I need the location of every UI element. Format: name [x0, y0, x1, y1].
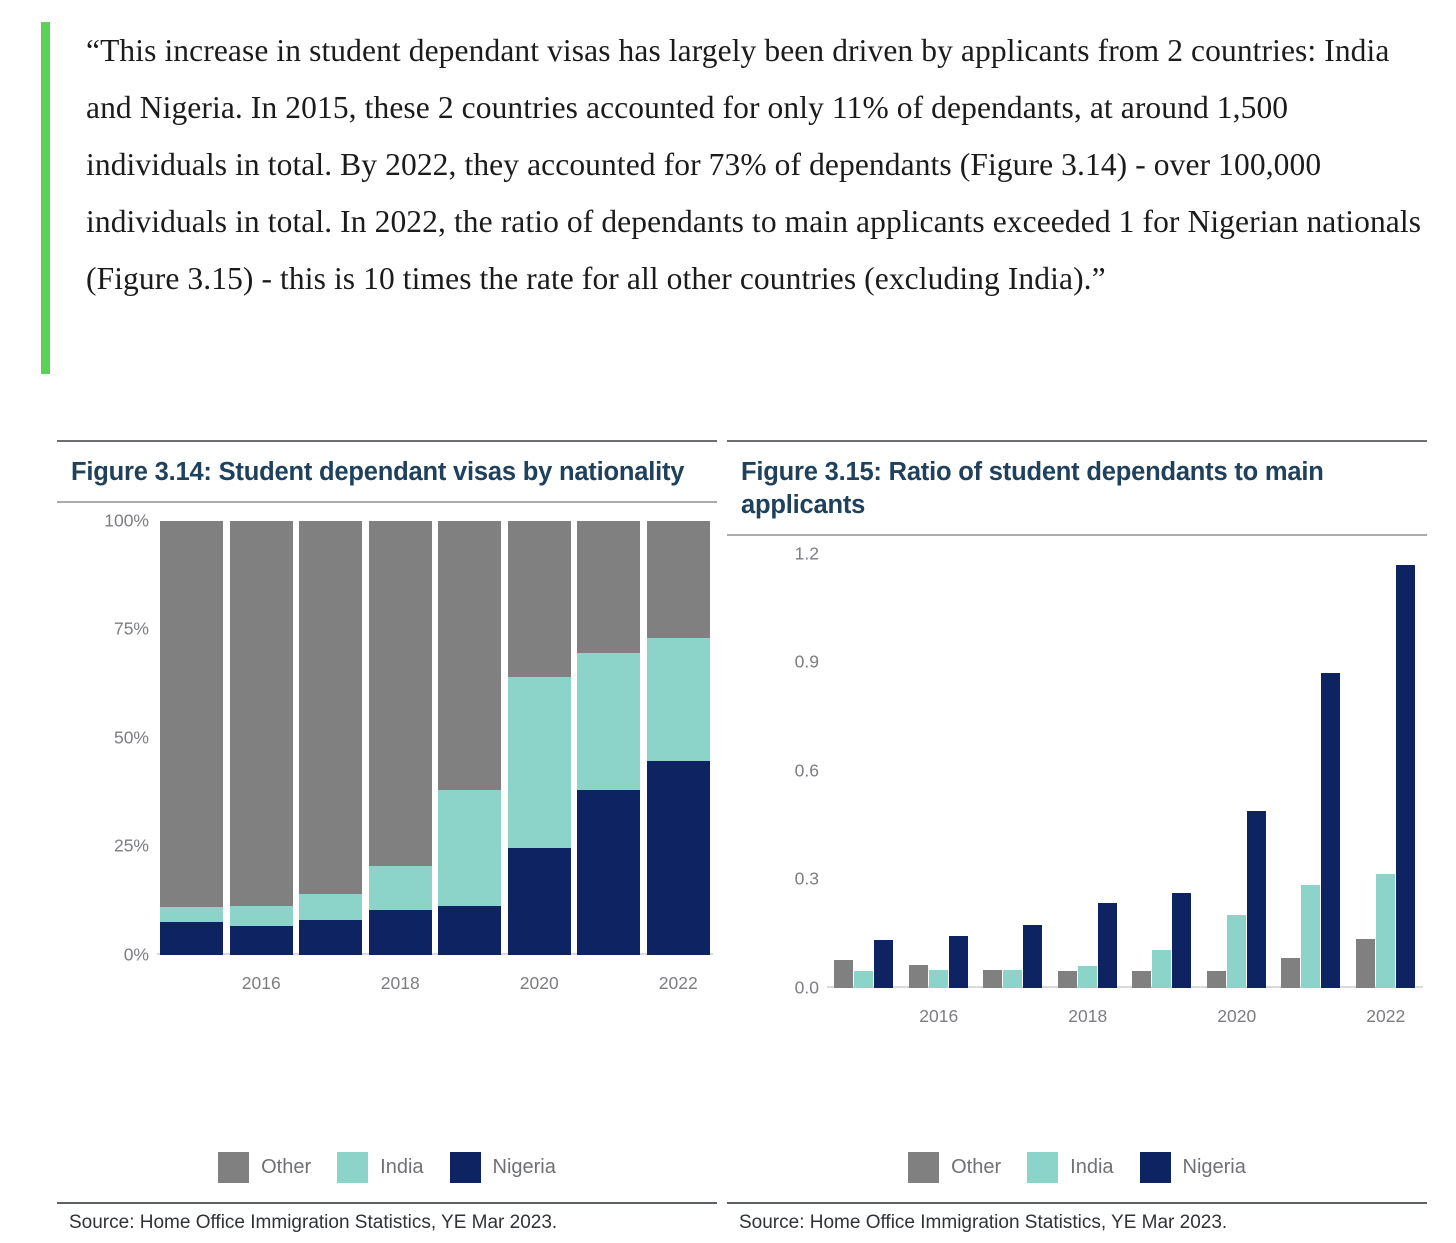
stack-segment-india	[230, 906, 293, 926]
stack-segment-other	[160, 521, 223, 907]
legend-swatch-india	[1027, 1152, 1058, 1183]
grouped-bars-container	[827, 554, 1423, 988]
stack-segment-india	[299, 894, 362, 920]
legend-label: Other	[951, 1156, 1001, 1179]
stack-segment-nigeria	[647, 761, 710, 954]
stack-segment-other	[577, 521, 640, 653]
stacked-bar-column[interactable]	[230, 521, 293, 955]
figure-3-15-title: Figure 3.15: Ratio of student dependants…	[727, 442, 1427, 534]
legend-swatch-nigeria	[450, 1152, 481, 1183]
bar-other[interactable]	[1058, 971, 1077, 988]
y-axis-tick: 1.2	[795, 543, 819, 564]
bar-nigeria[interactable]	[1098, 903, 1117, 988]
stacked-bar-column[interactable]	[160, 521, 223, 955]
stacked-bar-column[interactable]	[438, 521, 501, 955]
figure-bottom-rule	[57, 1202, 717, 1204]
stacked-bar-column[interactable]	[508, 521, 571, 955]
stack-segment-india	[647, 638, 710, 762]
bar-other[interactable]	[834, 960, 853, 987]
stack-segment-india	[438, 790, 501, 906]
legend-item[interactable]: India	[1027, 1152, 1113, 1183]
bar-india[interactable]	[1152, 950, 1171, 988]
stack-segment-nigeria	[369, 910, 432, 954]
stack-segment-nigeria	[230, 926, 293, 955]
legend-label: India	[380, 1156, 423, 1179]
figure-3-15-source: Source: Home Office Immigration Statisti…	[739, 1212, 1227, 1234]
bar-other[interactable]	[1132, 971, 1151, 987]
bar-india[interactable]	[1301, 885, 1320, 987]
bar-nigeria[interactable]	[1321, 673, 1340, 988]
bar-other[interactable]	[1281, 958, 1300, 988]
y-axis-tick: 0%	[124, 944, 149, 965]
stacked-bar-column[interactable]	[577, 521, 640, 955]
stacked-bar-column[interactable]	[369, 521, 432, 955]
x-axis-tick: 2020	[520, 973, 559, 994]
bar-nigeria[interactable]	[1172, 893, 1191, 988]
bar-india[interactable]	[854, 971, 873, 988]
legend-swatch-other	[218, 1152, 249, 1183]
stack-segment-other	[230, 521, 293, 906]
y-axis-tick: 0.9	[795, 652, 819, 673]
figure-3-15-legend: OtherIndiaNigeria	[727, 1152, 1427, 1183]
legend-label: Nigeria	[1183, 1156, 1246, 1179]
legend-item[interactable]: Other	[908, 1152, 1001, 1183]
y-axis-labels: 0.00.30.60.91.2	[727, 536, 819, 1048]
bar-india[interactable]	[1227, 915, 1246, 987]
legend-item[interactable]: Other	[218, 1152, 311, 1183]
stack-segment-nigeria	[299, 920, 362, 955]
bar-nigeria[interactable]	[949, 936, 968, 987]
bar-other[interactable]	[1207, 971, 1226, 988]
legend-swatch-nigeria	[1140, 1152, 1171, 1183]
x-axis-tick: 2018	[381, 973, 420, 994]
bar-other[interactable]	[983, 970, 1002, 987]
stack-segment-india	[369, 866, 432, 911]
bar-other[interactable]	[1356, 939, 1375, 988]
y-axis-tick: 75%	[114, 619, 149, 640]
stack-segment-other	[438, 521, 501, 790]
quote-accent-bar	[41, 22, 50, 374]
y-axis-tick: 50%	[114, 727, 149, 748]
legend-item[interactable]: Nigeria	[1140, 1152, 1246, 1183]
bar-nigeria[interactable]	[874, 940, 893, 987]
y-axis-labels: 0%25%50%75%100%	[57, 503, 149, 1015]
x-axis-tick: 2022	[659, 973, 698, 994]
figure-3-14-legend: OtherIndiaNigeria	[57, 1152, 717, 1183]
y-axis-tick: 100%	[104, 510, 149, 531]
bar-nigeria[interactable]	[1023, 925, 1042, 987]
bar-india[interactable]	[929, 970, 948, 987]
figure-3-15-plot: 0.00.30.60.91.2 2016201820202022	[727, 536, 1427, 1048]
legend-label: Nigeria	[493, 1156, 556, 1179]
stack-segment-india	[160, 907, 223, 922]
legend-item[interactable]: Nigeria	[450, 1152, 556, 1183]
stack-segment-other	[369, 521, 432, 866]
figure-3-14-title: Figure 3.14: Student dependant visas by …	[57, 442, 717, 501]
figure-bottom-rule	[727, 1202, 1427, 1204]
pull-quote: “This increase in student dependant visa…	[41, 22, 1431, 307]
stack-segment-nigeria	[160, 922, 223, 955]
bar-india[interactable]	[1003, 970, 1022, 987]
legend-label: India	[1070, 1156, 1113, 1179]
stacked-bar-column[interactable]	[299, 521, 362, 955]
legend-label: Other	[261, 1156, 311, 1179]
x-axis-tick: 2020	[1217, 1006, 1256, 1027]
stack-segment-india	[577, 653, 640, 790]
y-axis-tick: 0.6	[795, 760, 819, 781]
figure-3-14-plot: 0%25%50%75%100% 2016201820202022	[57, 503, 717, 1015]
x-axis-tick: 2022	[1366, 1006, 1405, 1027]
y-axis-tick: 0.3	[795, 869, 819, 890]
stack-segment-other	[647, 521, 710, 638]
stack-segment-other	[299, 521, 362, 894]
bar-other[interactable]	[909, 965, 928, 988]
stacked-bar-column[interactable]	[647, 521, 710, 955]
stack-segment-other	[508, 521, 571, 677]
bar-india[interactable]	[1078, 966, 1097, 988]
bar-nigeria[interactable]	[1396, 565, 1415, 987]
stack-segment-india	[508, 677, 571, 848]
y-axis-tick: 25%	[114, 836, 149, 857]
stack-segment-nigeria	[577, 790, 640, 955]
stack-segment-nigeria	[508, 848, 571, 954]
y-axis-tick: 0.0	[795, 977, 819, 998]
x-axis-tick: 2016	[919, 1006, 958, 1027]
legend-item[interactable]: India	[337, 1152, 423, 1183]
figure-3-14-panel: Figure 3.14: Student dependant visas by …	[57, 440, 717, 1220]
x-axis-tick: 2018	[1068, 1006, 1107, 1027]
figure-3-14-source: Source: Home Office Immigration Statisti…	[69, 1212, 557, 1234]
figure-3-15-panel: Figure 3.15: Ratio of student dependants…	[727, 440, 1427, 1220]
legend-swatch-india	[337, 1152, 368, 1183]
bar-india[interactable]	[1376, 874, 1395, 988]
x-axis-tick: 2016	[242, 973, 281, 994]
legend-swatch-other	[908, 1152, 939, 1183]
stacked-bars-container	[157, 521, 713, 955]
quote-text: “This increase in student dependant visa…	[86, 22, 1431, 307]
bar-nigeria[interactable]	[1247, 811, 1266, 987]
stack-segment-nigeria	[438, 906, 501, 955]
